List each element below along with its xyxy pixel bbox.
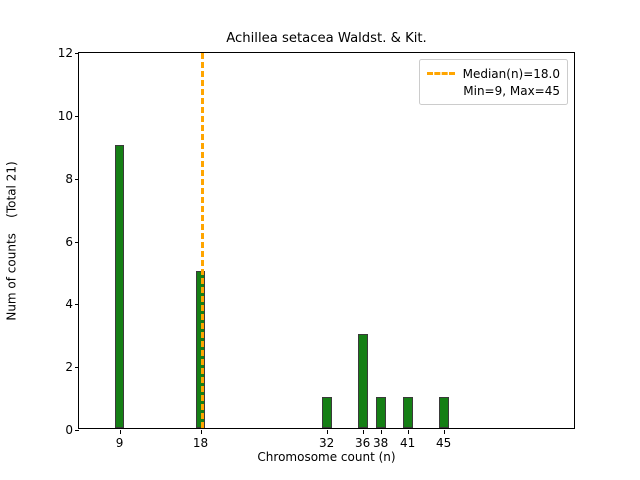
x-tick-mark xyxy=(444,430,445,434)
bar xyxy=(322,397,332,428)
x-tick-mark xyxy=(327,430,328,434)
bar xyxy=(403,397,413,428)
bar xyxy=(376,397,386,428)
y-tick-mark xyxy=(75,242,79,243)
x-tick-label: 32 xyxy=(319,436,334,450)
plot-area xyxy=(79,53,574,428)
plot-axes: 024681012 9183236384145 Median(n)=18.0 M… xyxy=(78,52,575,429)
x-tick-label: 36 xyxy=(355,436,370,450)
legend-item-median: Median(n)=18.0 xyxy=(427,65,560,82)
legend-label-median: Median(n)=18.0 xyxy=(463,67,560,81)
y-tick-mark xyxy=(75,53,79,54)
y-tick-mark xyxy=(75,304,79,305)
x-tick-label: 45 xyxy=(436,436,451,450)
figure-canvas: Achillea setacea Waldst. & Kit. Num of c… xyxy=(0,0,640,480)
y-tick-label: 0 xyxy=(65,423,73,437)
median-line xyxy=(201,53,204,428)
x-tick-label: 38 xyxy=(373,436,388,450)
x-tick-label: 18 xyxy=(193,436,208,450)
y-axis-label: Num of counts (Total 21) xyxy=(0,52,24,429)
x-tick-mark xyxy=(363,430,364,434)
dashed-line-icon xyxy=(427,68,455,80)
page-title: Achillea setacea Waldst. & Kit. xyxy=(78,31,575,46)
y-tick-mark xyxy=(75,367,79,368)
bar xyxy=(358,334,368,428)
y-tick-label: 10 xyxy=(58,109,73,123)
x-tick-mark xyxy=(201,430,202,434)
x-tick-mark xyxy=(381,430,382,434)
y-axis-label-text: Num of counts (Total 21) xyxy=(5,161,19,320)
y-tick-mark xyxy=(75,179,79,180)
y-tick-label: 4 xyxy=(65,297,73,311)
y-tick-mark xyxy=(75,116,79,117)
y-tick-label: 6 xyxy=(65,235,73,249)
legend-label-minmax: Min=9, Max=45 xyxy=(427,84,560,98)
x-tick-label: 9 xyxy=(116,436,124,450)
y-tick-label: 8 xyxy=(65,172,73,186)
x-tick-mark xyxy=(120,430,121,434)
bar xyxy=(115,145,125,428)
bar xyxy=(439,397,449,428)
y-tick-label: 12 xyxy=(58,46,73,60)
x-tick-label: 41 xyxy=(400,436,415,450)
legend-item-minmax: Min=9, Max=45 xyxy=(427,82,560,99)
y-tick-label: 2 xyxy=(65,360,73,374)
y-tick-mark xyxy=(75,430,79,431)
x-tick-mark xyxy=(408,430,409,434)
legend: Median(n)=18.0 Min=9, Max=45 xyxy=(419,59,568,105)
x-axis-label: Chromosome count (n) xyxy=(78,450,575,464)
